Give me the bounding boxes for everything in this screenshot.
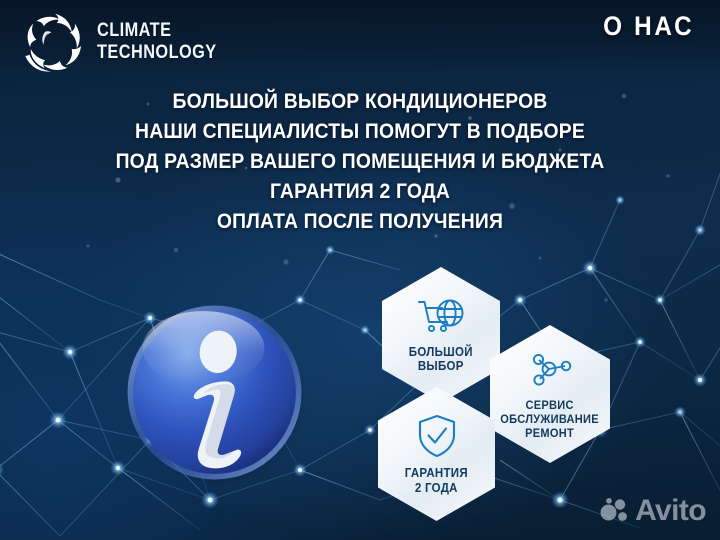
headline-line-5: ОПЛАТА ПОСЛЕ ПОЛУЧЕНИЯ (36, 206, 684, 236)
shield-check-icon (415, 413, 459, 459)
feature-label-warranty-line2: 2 ГОДА (405, 481, 468, 496)
feature-label-warranty-line1: ГАРАНТИЯ (405, 466, 468, 481)
network-nodes-icon (525, 349, 575, 391)
section-title: О НАС (603, 11, 694, 42)
headline-line-1: БОЛЬШОЙ ВЫБОР КОНДИЦИОНЕРОВ (36, 86, 684, 116)
avito-watermark: Avito (600, 494, 706, 528)
feature-label-choice-line1: БОЛЬШОЙ (409, 345, 473, 360)
feature-label-service: СЕРВИС ОБСЛУЖИВАНИЕ РЕМОНТ (501, 398, 600, 440)
avito-wordmark: Avito (635, 494, 706, 528)
feature-label-choice: БОЛЬШОЙ ВЫБОР (409, 345, 473, 374)
headline-line-3: ПОД РАЗМЕР ВАШЕГО ПОМЕЩЕНИЯ И БЮДЖЕТА (36, 146, 684, 176)
brand-name-line1: CLIMATE (97, 21, 217, 40)
bokeh-particles (0, 0, 720, 540)
feature-label-warranty: ГАРАНТИЯ 2 ГОДА (405, 466, 468, 495)
feature-label-service-line3: РЕМОНТ (501, 426, 600, 440)
headline-line-2: НАШИ СПЕЦИАЛИСТЫ ПОМОГУТ В ПОДБОРЕ (36, 116, 684, 146)
brand-name: CLIMATE TECHNOLOGY (97, 21, 217, 62)
feature-label-service-line1: СЕРВИС (501, 398, 600, 412)
info-sphere-icon (122, 300, 307, 485)
headline-block: БОЛЬШОЙ ВЫБОР КОНДИЦИОНЕРОВ НАШИ СПЕЦИАЛ… (0, 86, 720, 236)
promo-banner: CLIMATE TECHNOLOGY О НАС БОЛЬШОЙ ВЫБОР К… (0, 0, 720, 540)
brand-logo[interactable]: CLIMATE TECHNOLOGY (24, 10, 236, 72)
brand-name-line2: TECHNOLOGY (97, 43, 217, 62)
shopping-cart-globe-icon (416, 297, 466, 337)
fan-spiral-logo-icon (24, 10, 86, 72)
avito-dots-icon (600, 498, 628, 524)
feature-label-choice-line2: ВЫБОР (409, 359, 473, 374)
feature-label-service-line2: ОБСЛУЖИВАНИЕ (501, 412, 600, 426)
headline-line-4: ГАРАНТИЯ 2 ГОДА (36, 176, 684, 206)
